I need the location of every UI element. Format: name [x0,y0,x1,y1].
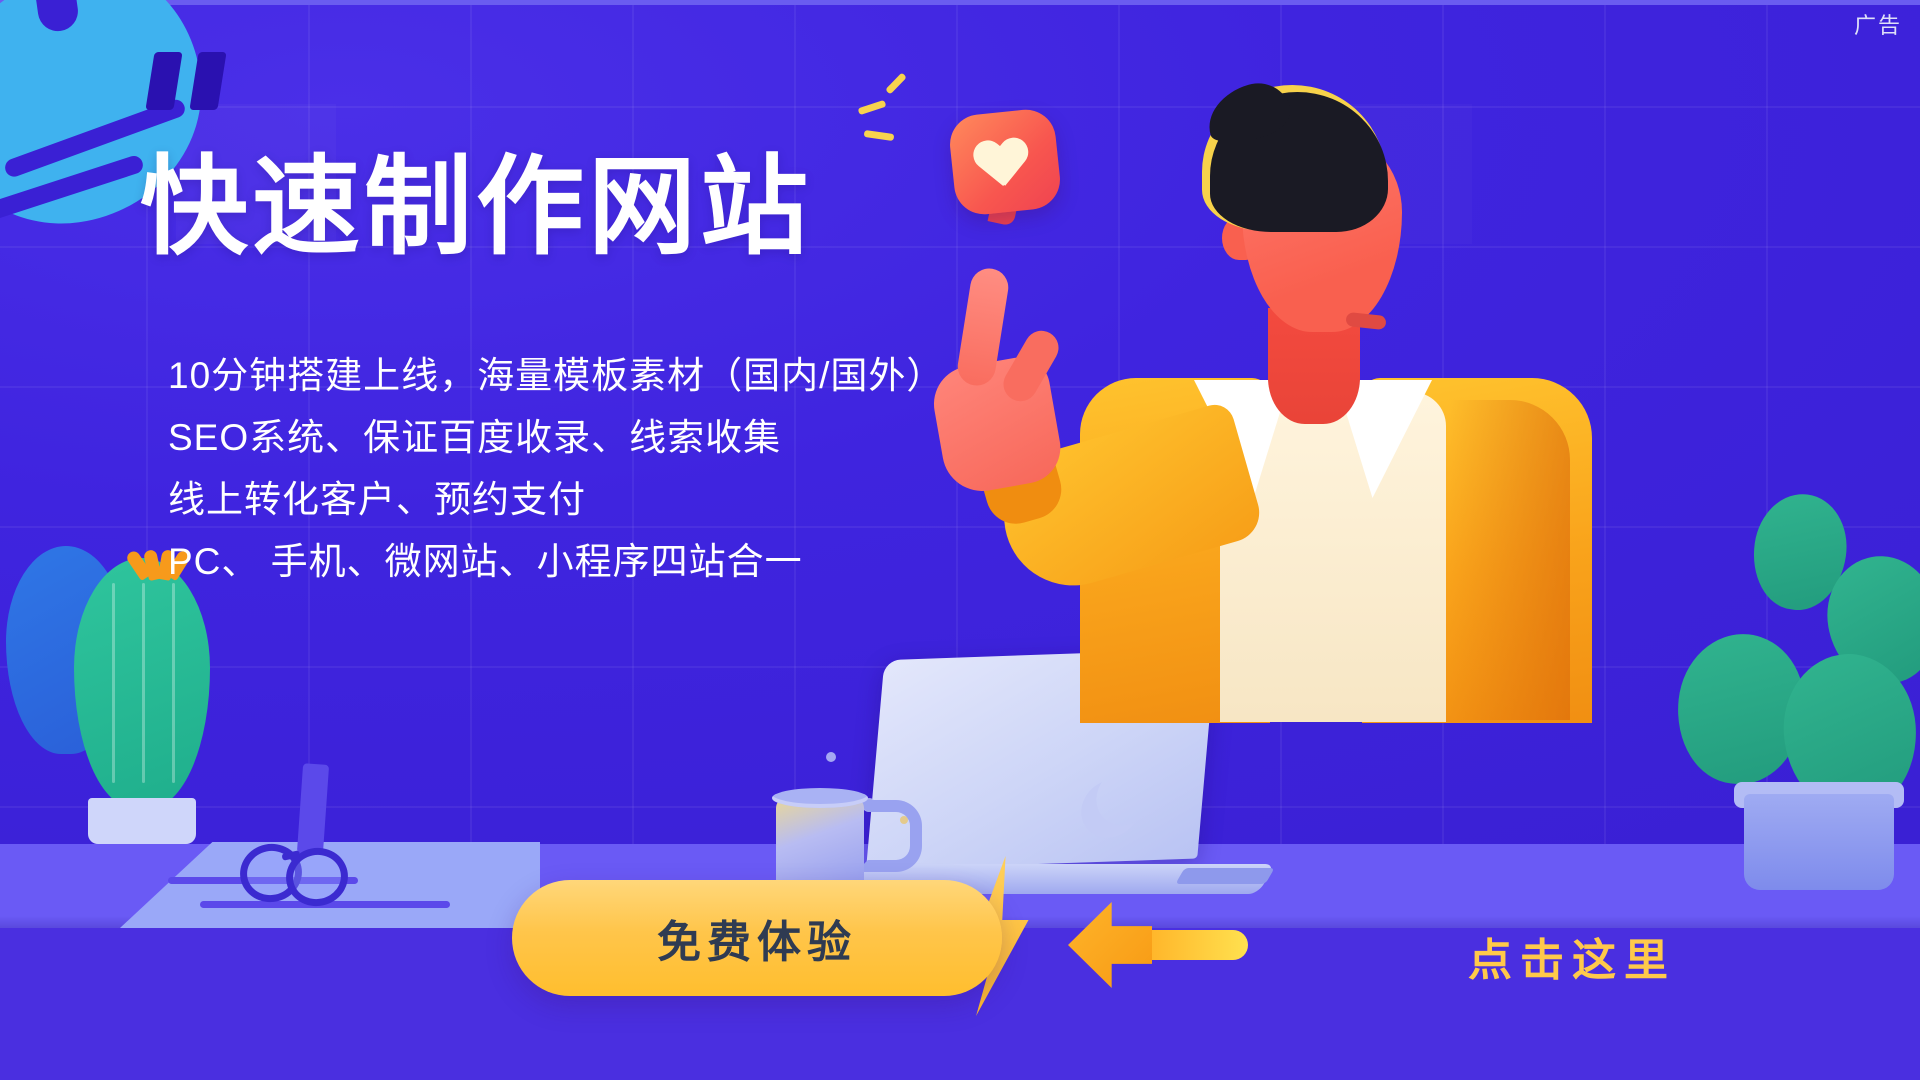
heart-icon [972,137,1033,193]
mug-rim [772,788,868,808]
free-trial-button[interactable]: 免费体验 [512,880,1002,996]
laptop-edge [1175,868,1274,884]
cactus-pot [88,798,196,844]
page-title: 快速制作网站 [140,148,812,267]
cactus-green [74,558,210,808]
top-edge-line [0,0,1920,5]
ad-label: 广告 [1854,8,1902,40]
sparkle-dot [826,752,836,762]
feature-item: PC、 手机、微网站、小程序四站合一 [168,531,944,593]
free-trial-button-label: 免费体验 [512,880,1002,996]
moon-icon [1094,766,1157,826]
jacket-shadow [1450,400,1570,720]
feature-item: SEO系统、保证百度收录、线索收集 [168,407,944,469]
leaf-notch [31,0,80,34]
ad-banner[interactable]: 快速制作网站 10分钟搭建上线，海量模板素材（国内/国外） SEO系统、保证百度… [0,0,1920,1080]
person-illustration [1150,40,1850,720]
plant-pot [1744,794,1894,890]
quote-mark-icon [150,52,226,114]
left-arrow-icon [1068,902,1248,988]
glasses-icon [240,838,360,892]
mug-handle [856,800,922,872]
feature-item: 10分钟搭建上线，海量模板素材（国内/国外） [168,345,944,407]
feature-item: 线上转化客户、预约支付 [168,469,944,531]
feature-list: 10分钟搭建上线，海量模板素材（国内/国外） SEO系统、保证百度收录、线索收集… [168,345,944,593]
click-here-hint: 点击这里 [1468,924,1676,988]
